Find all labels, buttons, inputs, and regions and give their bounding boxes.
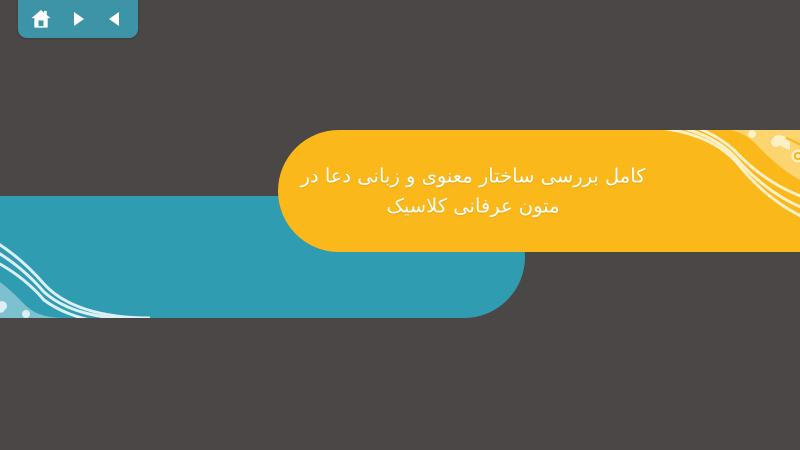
triangle-left-icon — [105, 9, 125, 29]
forward-button[interactable] — [66, 7, 90, 31]
arabesque-ornament-orange — [638, 130, 800, 252]
orange-title-panel: کامل بررسی ساختار معنوی و زبانی دعا در م… — [278, 130, 800, 252]
home-icon — [30, 8, 52, 30]
back-button[interactable] — [103, 7, 127, 31]
arabesque-ornament-teal — [0, 196, 150, 318]
navigation-bar — [18, 0, 138, 38]
home-button[interactable] — [29, 7, 53, 31]
slide-title: کامل بررسی ساختار معنوی و زبانی دعا در م… — [288, 161, 658, 220]
triangle-right-icon — [68, 9, 88, 29]
